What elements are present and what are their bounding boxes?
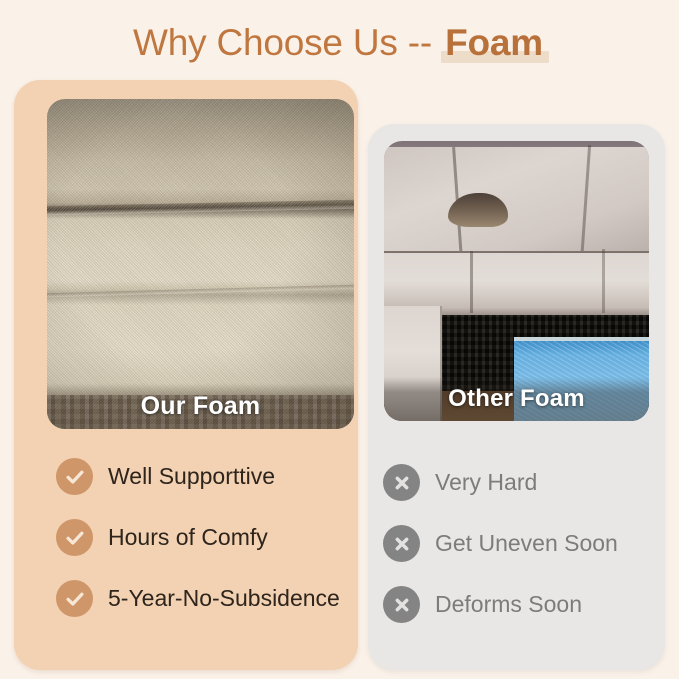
check-circle-icon bbox=[56, 519, 93, 556]
our-foam-feature-list: Well Supporttive Hours of Comfy 5-Year-N… bbox=[56, 458, 356, 617]
our-foam-panel: Our Foam Well Supporttive Hours of Comfy bbox=[14, 80, 358, 670]
other-foam-photo-rock bbox=[448, 193, 508, 227]
comparison-panels: Our Foam Well Supporttive Hours of Comfy bbox=[0, 80, 679, 675]
list-item-label: 5-Year-No-Subsidence bbox=[108, 586, 340, 611]
our-foam-photo: Our Foam bbox=[47, 99, 354, 429]
list-item-label: Deforms Soon bbox=[435, 592, 582, 617]
list-item-label: Well Supporttive bbox=[108, 464, 275, 489]
check-circle-icon bbox=[56, 580, 93, 617]
page-title-normal: Why Choose Us -- bbox=[133, 22, 442, 63]
other-foam-caption: Other Foam bbox=[384, 377, 649, 421]
list-item-label: Hours of Comfy bbox=[108, 525, 268, 550]
other-foam-photo-back-cushions bbox=[384, 147, 649, 259]
other-foam-panel: Other Foam Very Hard Get Uneven Soon bbox=[368, 124, 665, 670]
other-foam-photo-seat-seam-right bbox=[602, 249, 605, 313]
list-item: Hours of Comfy bbox=[56, 519, 356, 556]
other-foam-photo: Other Foam bbox=[384, 141, 649, 421]
list-item-label: Get Uneven Soon bbox=[435, 531, 618, 556]
x-circle-icon bbox=[383, 586, 420, 623]
other-foam-photo-seat-seam-left bbox=[470, 251, 473, 313]
check-circle-icon bbox=[56, 458, 93, 495]
list-item: Well Supporttive bbox=[56, 458, 356, 495]
page-title: Why Choose Us -- Foam bbox=[0, 22, 679, 64]
page-title-highlight-text: Foam bbox=[445, 22, 543, 63]
list-item: Deforms Soon bbox=[383, 586, 663, 623]
page-title-highlight: Foam bbox=[442, 22, 546, 64]
list-item: Very Hard bbox=[383, 464, 663, 501]
other-foam-feature-list: Very Hard Get Uneven Soon Deforms Soon bbox=[383, 464, 663, 623]
x-circle-icon bbox=[383, 525, 420, 562]
list-item: 5-Year-No-Subsidence bbox=[56, 580, 356, 617]
our-foam-caption: Our Foam bbox=[47, 383, 354, 429]
list-item: Get Uneven Soon bbox=[383, 525, 663, 562]
our-foam-photo-vignette bbox=[47, 99, 354, 429]
x-circle-icon bbox=[383, 464, 420, 501]
list-item-label: Very Hard bbox=[435, 470, 537, 495]
